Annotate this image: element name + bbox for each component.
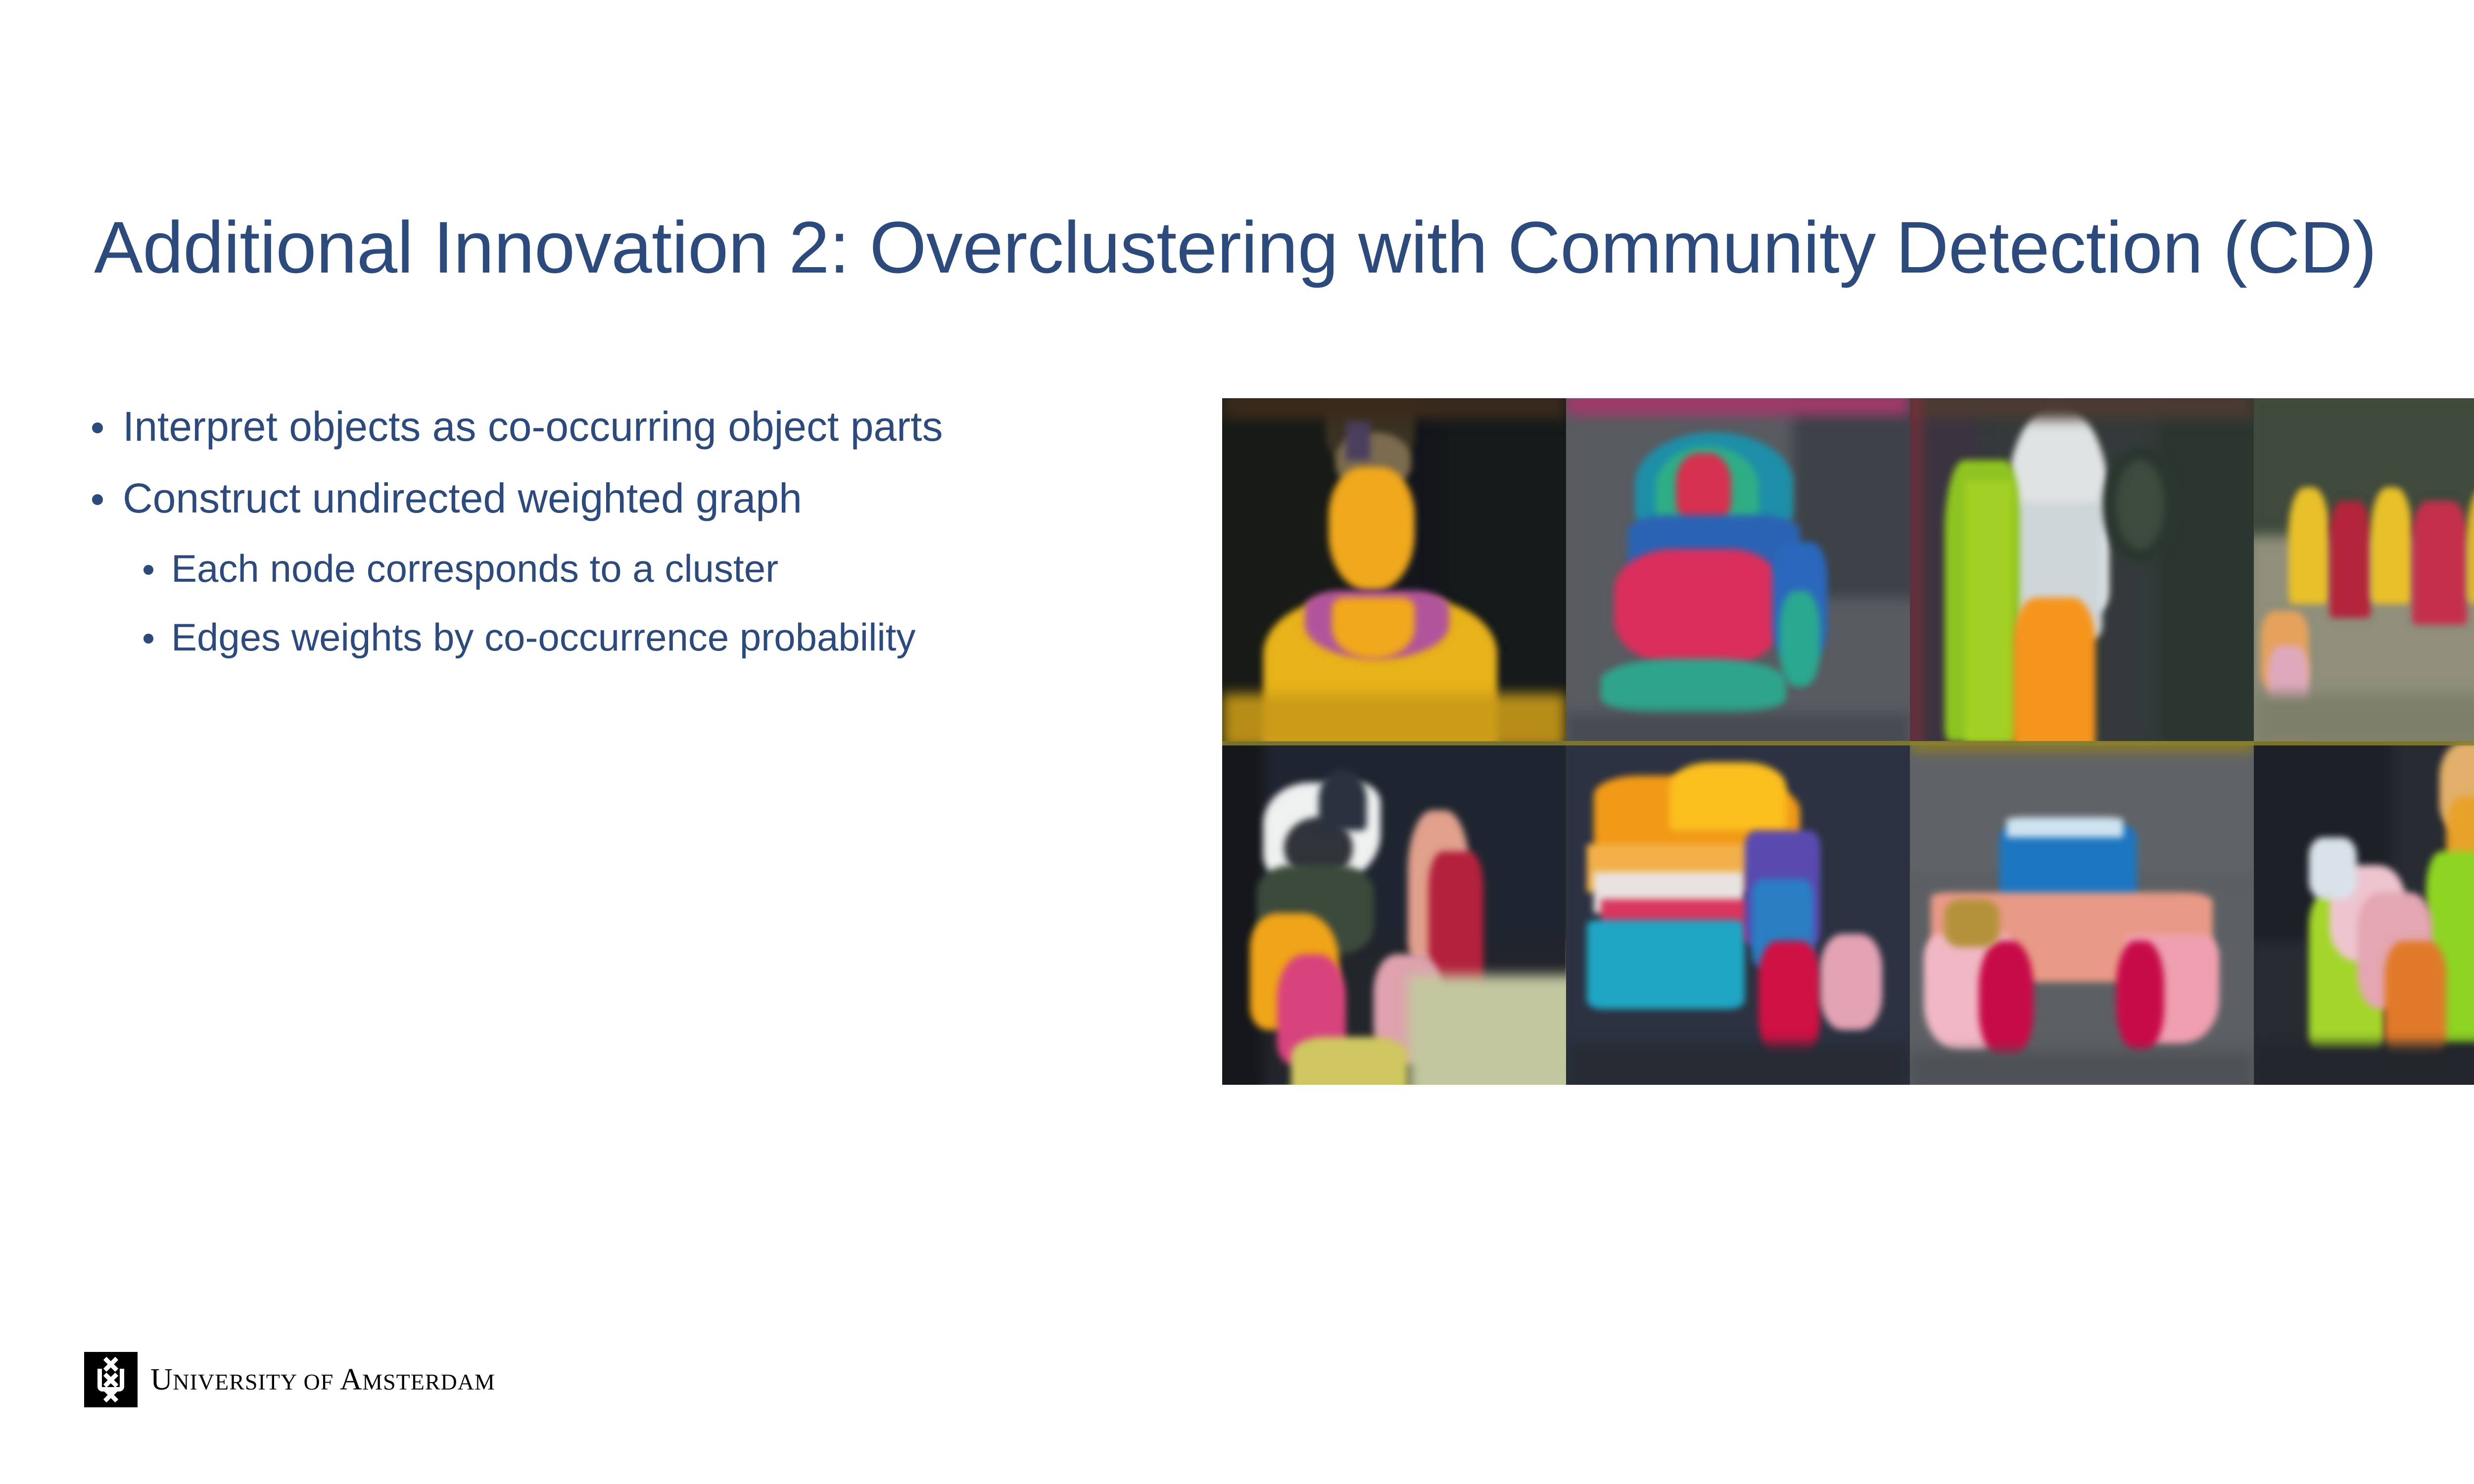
wordmark-a: A <box>340 1363 362 1396</box>
wordmark-of: OF <box>297 1369 340 1394</box>
university-wordmark: UNIVERSITY OF AMSTERDAM <box>150 1362 495 1397</box>
bullet-dot-icon <box>143 565 153 575</box>
bullet-dot-icon <box>92 422 103 433</box>
grid-cell-7 <box>1910 742 2254 1085</box>
grid-cell-8 <box>2254 742 2474 1085</box>
grid-cell-6 <box>1566 742 1910 1085</box>
list-item: Edges weights by co-occurrence probabili… <box>92 618 1171 656</box>
segmentation-figure <box>1222 398 2474 1085</box>
grid-cell-1 <box>1222 398 1566 742</box>
saltire-cross-icon <box>102 1356 119 1373</box>
university-logo: UNIVERSITY OF AMSTERDAM <box>84 1352 495 1407</box>
grid-cell-5 <box>1222 742 1566 1085</box>
bullet-dot-icon <box>143 634 153 644</box>
list-item: Each node corresponds to a cluster <box>92 549 1171 588</box>
list-item: Construct undirected weighted graph <box>92 477 1171 519</box>
bullet-dot-icon <box>92 494 103 505</box>
list-item-label: Edges weights by co-occurrence probabili… <box>171 618 915 656</box>
list-item-label: Construct undirected weighted graph <box>123 477 802 519</box>
image-grid <box>1222 398 2474 1085</box>
page-title: Additional Innovation 2: Overclustering … <box>94 208 2474 287</box>
list-item-label: Interpret objects as co-occurring object… <box>123 406 943 447</box>
bullet-list: Interpret objects as co-occurring object… <box>92 406 1171 687</box>
saltire-cross-icon <box>102 1372 119 1389</box>
wordmark-msterdam: MSTERDAM <box>362 1369 495 1394</box>
wordmark-niversity: NIVERSITY <box>173 1369 297 1394</box>
list-item-label: Each node corresponds to a cluster <box>171 549 778 588</box>
wordmark-u: U <box>150 1363 173 1396</box>
list-item: Interpret objects as co-occurring object… <box>92 406 1171 447</box>
grid-cell-3 <box>1910 398 2254 742</box>
saltire-cross-icon <box>102 1387 119 1403</box>
slide-root: Additional Innovation 2: Overclustering … <box>0 0 2474 1484</box>
uva-coat-of-arms-icon <box>84 1352 138 1407</box>
grid-cell-2 <box>1566 398 1910 742</box>
grid-cell-4 <box>2254 398 2474 742</box>
